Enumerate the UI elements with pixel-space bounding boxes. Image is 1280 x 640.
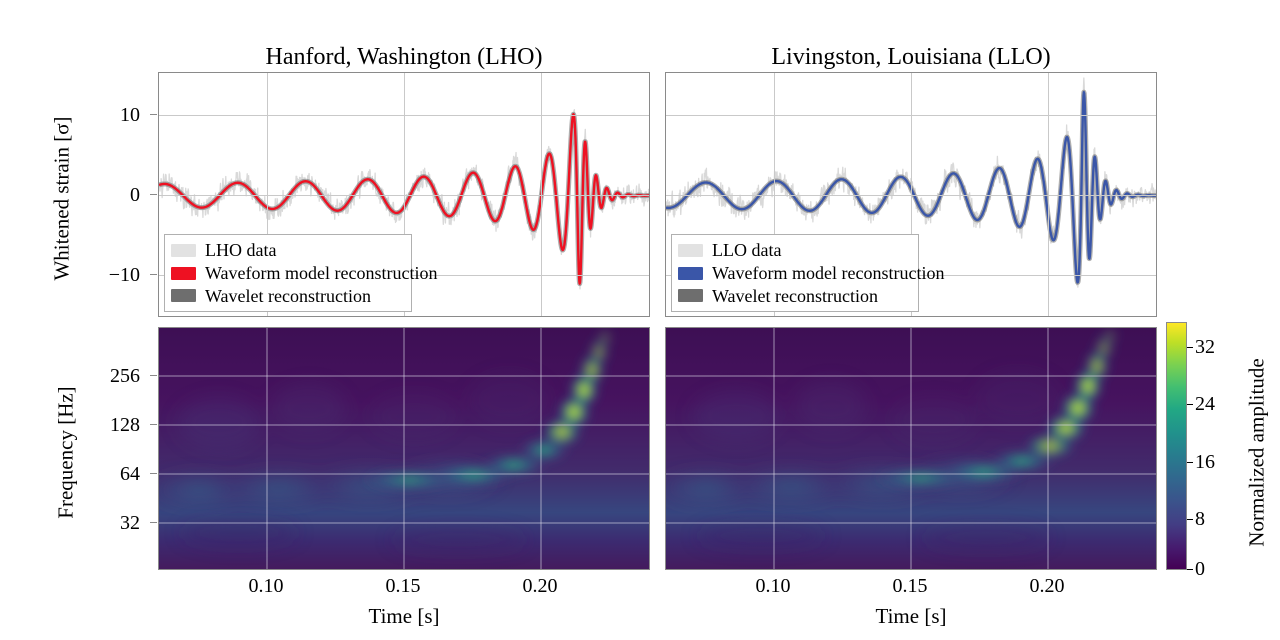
legend-label-data: LLO data bbox=[712, 241, 781, 259]
freq-ytickmark-256 bbox=[150, 375, 157, 376]
legend-swatch-wavelet bbox=[171, 289, 196, 302]
strain-ytickmark-neg10 bbox=[150, 274, 157, 275]
colorbar-tick-16: 16 bbox=[1195, 451, 1215, 474]
colorbar-tick-24: 24 bbox=[1195, 393, 1215, 416]
time-axis-label-lho: Time [s] bbox=[158, 604, 650, 629]
legend-row: Waveform model reconstruction bbox=[171, 263, 403, 284]
spectrogram-image-lho bbox=[159, 328, 650, 570]
strain-ytickmark-0 bbox=[150, 194, 157, 195]
legend-swatch-wavelet bbox=[678, 289, 703, 302]
colorbar-axis-label: Normalized amplitude bbox=[1245, 333, 1270, 573]
gridline-h bbox=[666, 195, 1156, 196]
legend-row: LHO data bbox=[171, 240, 403, 261]
colorbar-tickmark-0 bbox=[1187, 569, 1193, 570]
legend-label-wavelet: Wavelet reconstruction bbox=[205, 287, 371, 305]
colorbar-tick-0: 0 bbox=[1195, 558, 1205, 581]
colorbar-tickmark-8 bbox=[1187, 519, 1193, 520]
freq-ytickmark-32 bbox=[150, 522, 157, 523]
panel-title-lho: Hanford, Washington (LHO) bbox=[158, 44, 650, 71]
time-xtick-015-lho: 0.15 bbox=[363, 575, 443, 598]
gw-detection-figure: Hanford, Washington (LHO) Livingston, Lo… bbox=[0, 0, 1280, 640]
strain-ytick-0: 0 bbox=[92, 184, 140, 207]
legend-row: LLO data bbox=[678, 240, 910, 261]
freq-ytickmark-128 bbox=[150, 424, 157, 425]
spectrogram-image-llo bbox=[666, 328, 1157, 570]
time-xtick-010-llo: 0.10 bbox=[733, 575, 813, 598]
freq-ytick-128: 128 bbox=[88, 414, 140, 437]
colorbar-tickmark-32 bbox=[1187, 347, 1193, 348]
gridline-h bbox=[159, 115, 649, 116]
colorbar-tickmark-16 bbox=[1187, 462, 1193, 463]
spectrogram-llo bbox=[665, 327, 1157, 570]
legend-row: Wavelet reconstruction bbox=[171, 285, 403, 306]
freq-ytickmark-64 bbox=[150, 473, 157, 474]
time-xtick-020-llo: 0.20 bbox=[1007, 575, 1087, 598]
strain-ytickmark-10 bbox=[150, 114, 157, 115]
legend-row: Wavelet reconstruction bbox=[678, 285, 910, 306]
legend-swatch-waveform-model bbox=[678, 267, 703, 280]
colorbar-tick-8: 8 bbox=[1195, 508, 1205, 531]
legend-label-wavelet: Wavelet reconstruction bbox=[712, 287, 878, 305]
panel-title-llo: Livingston, Louisiana (LLO) bbox=[665, 44, 1157, 71]
time-xtick-020-lho: 0.20 bbox=[500, 575, 580, 598]
time-xtick-015-llo: 0.15 bbox=[870, 575, 950, 598]
legend-label-waveform-model: Waveform model reconstruction bbox=[205, 264, 437, 282]
legend-row: Waveform model reconstruction bbox=[678, 263, 910, 284]
legend-label-data: LHO data bbox=[205, 241, 276, 259]
frequency-y-axis-label: Frequency [Hz] bbox=[54, 343, 79, 563]
strain-ytick-neg10: −10 bbox=[80, 264, 140, 287]
freq-ytick-256: 256 bbox=[88, 365, 140, 388]
gridline-h bbox=[666, 115, 1156, 116]
legend-label-waveform-model: Waveform model reconstruction bbox=[712, 264, 944, 282]
time-xtick-010-lho: 0.10 bbox=[226, 575, 306, 598]
colorbar-tick-32: 32 bbox=[1195, 336, 1215, 359]
colorbar-tickmark-24 bbox=[1187, 404, 1193, 405]
legend-lho: LHO data Waveform model reconstruction W… bbox=[164, 234, 412, 312]
legend-llo: LLO data Waveform model reconstruction W… bbox=[671, 234, 919, 312]
legend-swatch-data bbox=[171, 244, 196, 257]
spectrogram-lho bbox=[158, 327, 650, 570]
colorbar bbox=[1166, 322, 1187, 570]
legend-swatch-data bbox=[678, 244, 703, 257]
strain-y-axis-label: Whitened strain [σ] bbox=[50, 79, 75, 319]
time-axis-label-llo: Time [s] bbox=[665, 604, 1157, 629]
legend-swatch-waveform-model bbox=[171, 267, 196, 280]
freq-ytick-64: 64 bbox=[88, 463, 140, 486]
gridline-h bbox=[159, 195, 649, 196]
freq-ytick-32: 32 bbox=[88, 512, 140, 535]
strain-ytick-10: 10 bbox=[92, 104, 140, 127]
